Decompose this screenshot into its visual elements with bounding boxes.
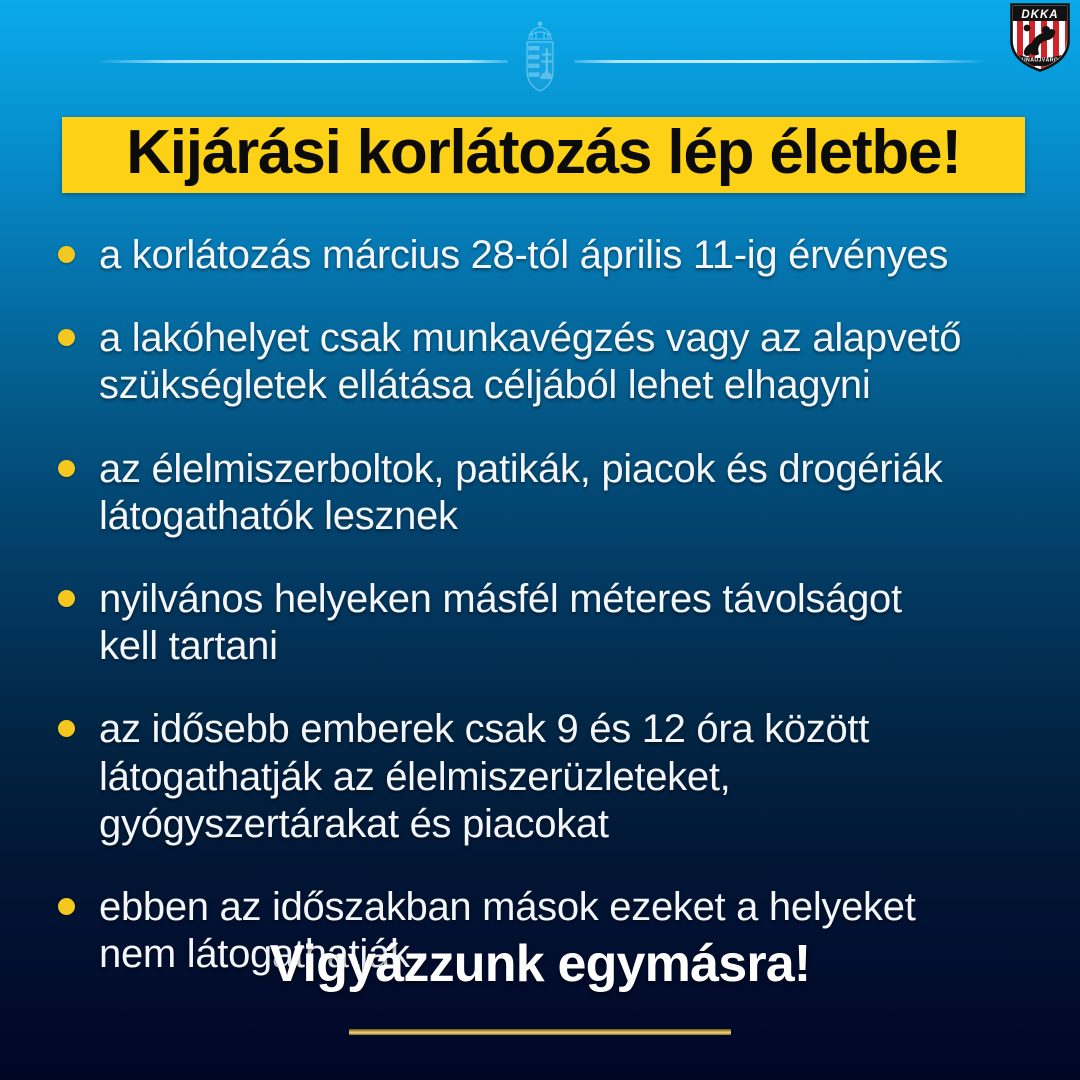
- list-item-line: az idősebb emberek csak 9 és 12 óra közö…: [99, 706, 1058, 753]
- list-item-line: látogathatók lesznek: [99, 493, 1058, 540]
- bullet-dot-icon: [58, 329, 75, 346]
- list-item: nyilvános helyeken másfél méteres távols…: [58, 576, 1058, 670]
- list-item-line: kell tartani: [99, 623, 1058, 670]
- bullet-dot-icon: [58, 460, 75, 477]
- svg-text:DKKA: DKKA: [1021, 9, 1058, 21]
- bullet-dot-icon: [58, 720, 75, 737]
- list-item: a korlátozás március 28-tól április 11-i…: [58, 232, 1058, 279]
- list-item-line: nyilvános helyeken másfél méteres távols…: [99, 576, 1058, 623]
- header-divider-right-icon: [574, 60, 986, 63]
- dkka-club-logo-icon[interactable]: DKKA DUNAÚJVÁROS: [1009, 2, 1071, 72]
- gold-divider-icon: [349, 1029, 731, 1035]
- list-item-line: a lakóhelyet csak munkavégzés vagy az al…: [99, 315, 1058, 362]
- list-item-text: az idősebb emberek csak 9 és 12 óra közö…: [99, 706, 1058, 848]
- list-item: az élelmiszerboltok, patikák, piacok és …: [58, 446, 1058, 540]
- title-banner: Kijárási korlátozás lép életbe!: [62, 117, 1025, 193]
- list-item-line: a korlátozás március 28-tól április 11-i…: [99, 232, 1058, 279]
- list-item-line: gyógyszertárakat és piacokat: [99, 801, 1058, 848]
- list-item-line: szükségletek ellátása céljából lehet elh…: [99, 362, 1058, 409]
- list-item-text: a korlátozás március 28-tól április 11-i…: [99, 232, 1058, 279]
- poster-header: DKKA DUNAÚJVÁROS: [0, 0, 1080, 112]
- list-item-line: ebben az időszakban mások ezeket a helye…: [99, 884, 1058, 931]
- bullet-dot-icon: [58, 246, 75, 263]
- bullet-dot-icon: [58, 898, 75, 915]
- rules-list: a korlátozás március 28-tól április 11-i…: [58, 232, 1058, 1014]
- page-title: Kijárási korlátozás lép életbe!: [126, 122, 961, 188]
- list-item-text: az élelmiszerboltok, patikák, piacok és …: [99, 446, 1058, 540]
- list-item: a lakóhelyet csak munkavégzés vagy az al…: [58, 315, 1058, 409]
- list-item-text: a lakóhelyet csak munkavégzés vagy az al…: [99, 315, 1058, 409]
- bullet-dot-icon: [58, 590, 75, 607]
- list-item-text: nyilvános helyeken másfél méteres távols…: [99, 576, 1058, 670]
- list-item: az idősebb emberek csak 9 és 12 óra közö…: [58, 706, 1058, 848]
- list-item-line: az élelmiszerboltok, patikák, piacok és …: [99, 446, 1058, 493]
- footer-slogan: Vigyázzunk egymásra!: [0, 936, 1080, 993]
- header-divider-left-icon: [96, 60, 508, 63]
- poster-canvas: DKKA DUNAÚJVÁROS Kijárási korlátozás lép…: [0, 0, 1080, 1080]
- poster-footer: Vigyázzunk egymásra!: [0, 936, 1080, 1035]
- list-item-line: látogathatják az élelmiszerüzleteket,: [99, 754, 1058, 801]
- hungarian-coat-of-arms-icon: [516, 21, 564, 93]
